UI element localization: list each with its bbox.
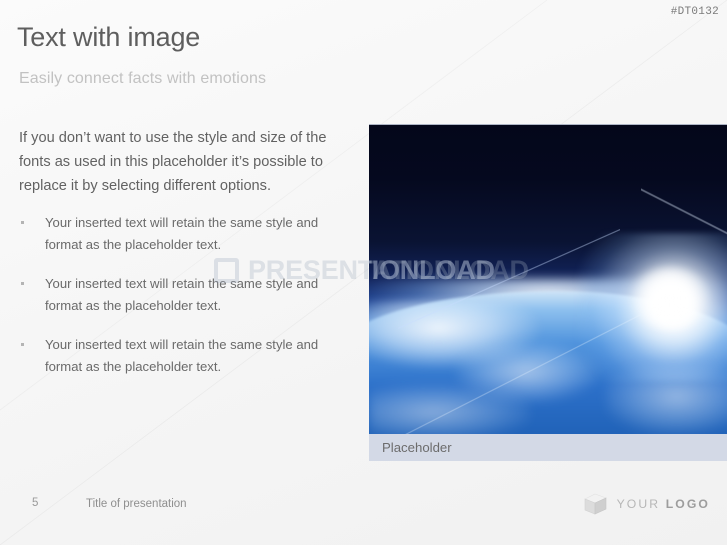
document-id: #DT0132 xyxy=(671,6,719,18)
list-item-label: Your inserted text will retain the same … xyxy=(45,337,318,374)
bullet-dot-icon xyxy=(21,343,24,346)
bullet-list: Your inserted text will retain the same … xyxy=(19,212,337,378)
list-item: Your inserted text will retain the same … xyxy=(19,334,331,378)
logo[interactable]: YOUR LOGO xyxy=(584,492,710,516)
bullet-dot-icon xyxy=(21,221,24,224)
page-subtitle: Easily connect facts with emotions xyxy=(19,70,266,88)
logo-text: YOUR LOGO xyxy=(617,497,710,511)
list-item-label: Your inserted text will retain the same … xyxy=(45,276,318,313)
image-light-ray xyxy=(641,143,727,298)
logo-text-bold: LOGO xyxy=(666,497,710,511)
page-title: Text with image xyxy=(17,22,200,53)
list-item: Your inserted text will retain the same … xyxy=(19,273,331,317)
footer-presentation-title: Title of presentation xyxy=(86,498,187,510)
image-light-ray xyxy=(390,304,641,434)
image-placeholder[interactable]: PRESENTATIONLOAD xyxy=(369,124,727,434)
footer-page-number: 5 xyxy=(32,497,38,509)
cube-icon xyxy=(584,492,607,516)
logo-text-light: YOUR xyxy=(617,497,661,511)
bullet-dot-icon xyxy=(21,282,24,285)
image-caption-bar[interactable]: Placeholder xyxy=(369,434,727,461)
image-caption-label: Placeholder xyxy=(369,440,452,455)
slide-canvas: #DT0132 Text with image Easily connect f… xyxy=(0,0,727,545)
list-item: Your inserted text will retain the same … xyxy=(19,212,331,256)
text-column: If you don’t want to use the style and s… xyxy=(19,126,337,378)
image-top-edge xyxy=(369,124,727,125)
intro-paragraph: If you don’t want to use the style and s… xyxy=(19,126,337,198)
list-item-label: Your inserted text will retain the same … xyxy=(45,215,318,252)
